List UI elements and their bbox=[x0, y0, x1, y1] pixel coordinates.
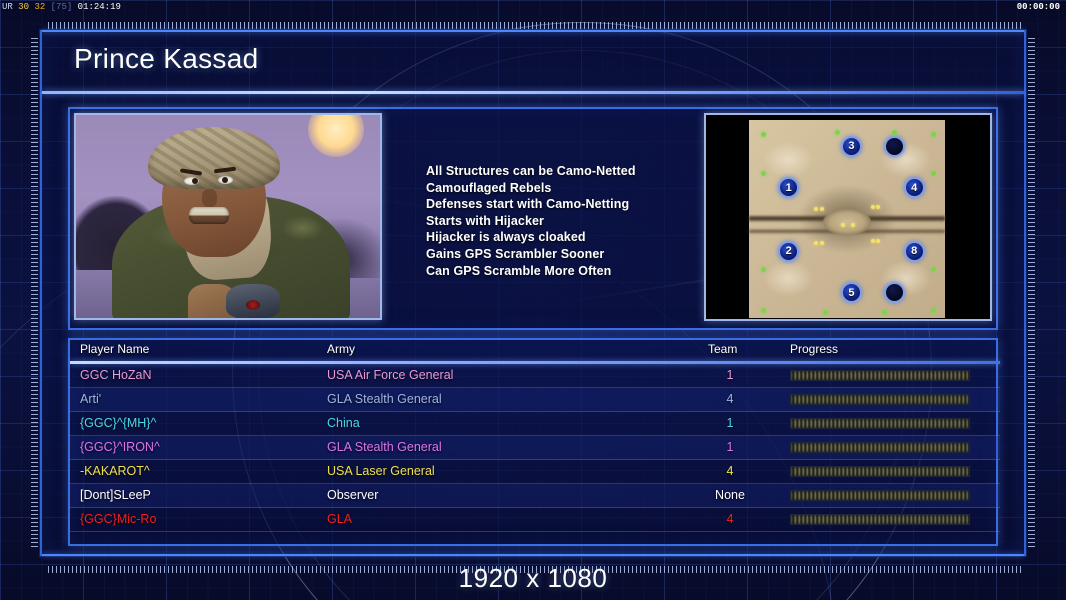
minimap-oil-marker bbox=[876, 239, 880, 243]
minimap-start-position-empty[interactable] bbox=[884, 136, 905, 157]
cell-army: USA Laser General bbox=[327, 464, 435, 478]
header-team: Team bbox=[708, 342, 737, 356]
header-player-name: Player Name bbox=[80, 342, 149, 356]
cell-progress-bar bbox=[790, 442, 970, 453]
fps-value-1: 30 bbox=[18, 2, 29, 12]
minimap-start-position[interactable]: 1 bbox=[778, 177, 799, 198]
fps-value-3: [75] bbox=[51, 2, 73, 12]
progress-bar-fill bbox=[791, 515, 969, 524]
cell-army: China bbox=[327, 416, 360, 430]
minimap-oil-marker bbox=[876, 205, 880, 209]
progress-bar-fill bbox=[791, 395, 969, 404]
minimap-supply-marker bbox=[761, 132, 766, 137]
minimap-oil-marker bbox=[820, 207, 824, 211]
cell-player-name: [Dont]SLeeP bbox=[80, 488, 151, 502]
minimap-supply-marker bbox=[761, 267, 766, 272]
cell-team: 4 bbox=[710, 512, 750, 526]
portrait-pupil-left bbox=[192, 178, 198, 184]
ruler-ticks-right bbox=[1028, 38, 1035, 548]
cell-team: 1 bbox=[710, 368, 750, 382]
general-portrait-image bbox=[76, 115, 380, 318]
cell-team: None bbox=[710, 488, 750, 502]
header-army: Army bbox=[327, 342, 355, 356]
minimap-supply-marker bbox=[761, 308, 766, 313]
progress-bar-fill bbox=[791, 443, 969, 452]
minimap-start-position-empty[interactable] bbox=[884, 282, 905, 303]
minimap-oil-marker bbox=[871, 205, 875, 209]
player-list-header: Player Name Army Team Progress bbox=[70, 340, 1000, 361]
minimap-supply-marker bbox=[823, 310, 828, 315]
minimap-start-position[interactable]: 2 bbox=[778, 241, 799, 262]
portrait-nose bbox=[202, 189, 217, 207]
minimap-oil-marker bbox=[814, 207, 818, 211]
title-divider bbox=[42, 91, 1024, 94]
minimap-start-position[interactable]: 4 bbox=[904, 177, 925, 198]
cell-team: 1 bbox=[710, 416, 750, 430]
page-title: Prince Kassad bbox=[74, 43, 258, 75]
minimap-start-position[interactable]: 3 bbox=[841, 136, 862, 157]
ruler-ticks-left bbox=[31, 38, 38, 548]
header-progress: Progress bbox=[790, 342, 838, 356]
minimap-start-position[interactable]: 8 bbox=[904, 241, 925, 262]
minimap-supply-marker bbox=[931, 171, 936, 176]
cell-player-name: -KAKAROT^ bbox=[80, 464, 150, 478]
minimap-supply-marker bbox=[931, 308, 936, 313]
cell-army: GLA Stealth General bbox=[327, 440, 442, 454]
minimap-supply-marker bbox=[931, 267, 936, 272]
cell-progress-bar bbox=[790, 418, 970, 429]
title-band: Prince Kassad bbox=[42, 32, 1024, 94]
fps-label: UR bbox=[2, 2, 13, 12]
progress-bar-fill bbox=[791, 371, 969, 380]
game-lobby-screen: UR 30 32 [75] 01:24:19 00:00:00 Prince K… bbox=[0, 0, 1066, 600]
cell-player-name: {GGC}Mic-Ro bbox=[80, 512, 156, 526]
cell-army: USA Air Force General bbox=[327, 368, 453, 382]
cell-progress-bar bbox=[790, 394, 970, 405]
table-row[interactable]: [Dont]SLeePObserverNone bbox=[70, 484, 1000, 508]
minimap-supply-marker bbox=[931, 132, 936, 137]
cell-army: Observer bbox=[327, 488, 378, 502]
minimap-oil-marker bbox=[851, 223, 855, 227]
portrait-pupil-right bbox=[222, 177, 228, 183]
table-row[interactable]: -KAKAROT^USA Laser General4 bbox=[70, 460, 1000, 484]
table-row[interactable]: GGC HoZaNUSA Air Force General1 bbox=[70, 364, 1000, 388]
resolution-label: 1920 x 1080 bbox=[0, 563, 1066, 594]
minimap-supply-marker bbox=[882, 310, 887, 315]
progress-bar-fill bbox=[791, 419, 969, 428]
minimap-oil-marker bbox=[820, 241, 824, 245]
cell-player-name: GGC HoZaN bbox=[80, 368, 152, 382]
ruler-ticks-top bbox=[48, 22, 1024, 29]
top-status-bar: UR 30 32 [75] 01:24:19 00:00:00 bbox=[0, 0, 1066, 14]
minimap-oil-marker bbox=[814, 241, 818, 245]
table-row[interactable]: Arti'GLA Stealth General4 bbox=[70, 388, 1000, 412]
table-row[interactable]: {GGC}^{MH}^China1 bbox=[70, 412, 1000, 436]
minimap-supply-marker bbox=[761, 171, 766, 176]
progress-bar-fill bbox=[791, 491, 969, 500]
cell-player-name: Arti' bbox=[80, 392, 101, 406]
minimap-center-feature bbox=[823, 209, 870, 235]
cell-team: 4 bbox=[710, 392, 750, 406]
portrait-mouth bbox=[189, 207, 229, 224]
cell-progress-bar bbox=[790, 514, 970, 525]
minimap-terrain: 314285 bbox=[749, 120, 945, 318]
session-timer: 01:24:19 bbox=[78, 2, 121, 12]
fps-counter: UR 30 32 [75] 01:24:19 bbox=[2, 0, 121, 14]
progress-bar-fill bbox=[791, 467, 969, 476]
cell-team: 1 bbox=[710, 440, 750, 454]
cell-army: GLA bbox=[327, 512, 352, 526]
minimap-supply-marker bbox=[835, 130, 840, 135]
cell-progress-bar bbox=[790, 490, 970, 501]
minimap-oil-marker bbox=[871, 239, 875, 243]
minimap-start-position[interactable]: 5 bbox=[841, 282, 862, 303]
cell-team: 4 bbox=[710, 464, 750, 478]
cell-progress-bar bbox=[790, 370, 970, 381]
game-clock: 00:00:00 bbox=[1017, 0, 1060, 14]
cell-player-name: {GGC}^{MH}^ bbox=[80, 416, 156, 430]
portrait-device-indicator bbox=[246, 300, 260, 310]
player-rows-container: GGC HoZaNUSA Air Force General1Arti'GLA … bbox=[70, 364, 1000, 532]
general-portrait-frame bbox=[74, 113, 382, 320]
table-row[interactable]: {GGC}^IRON^GLA Stealth General1 bbox=[70, 436, 1000, 460]
general-info-panel: All Structures can be Camo-Netted Camouf… bbox=[68, 107, 998, 330]
minimap-frame[interactable]: 314285 bbox=[704, 113, 992, 321]
minimap-supply-marker bbox=[892, 130, 897, 135]
cell-army: GLA Stealth General bbox=[327, 392, 442, 406]
cell-progress-bar bbox=[790, 466, 970, 477]
cell-player-name: {GGC}^IRON^ bbox=[80, 440, 160, 454]
fps-value-2: 32 bbox=[34, 2, 45, 12]
table-row[interactable]: {GGC}Mic-RoGLA4 bbox=[70, 508, 1000, 532]
frame-highlight-bottom bbox=[42, 554, 1024, 556]
player-list-panel: Player Name Army Team Progress GGC HoZaN… bbox=[68, 338, 998, 546]
